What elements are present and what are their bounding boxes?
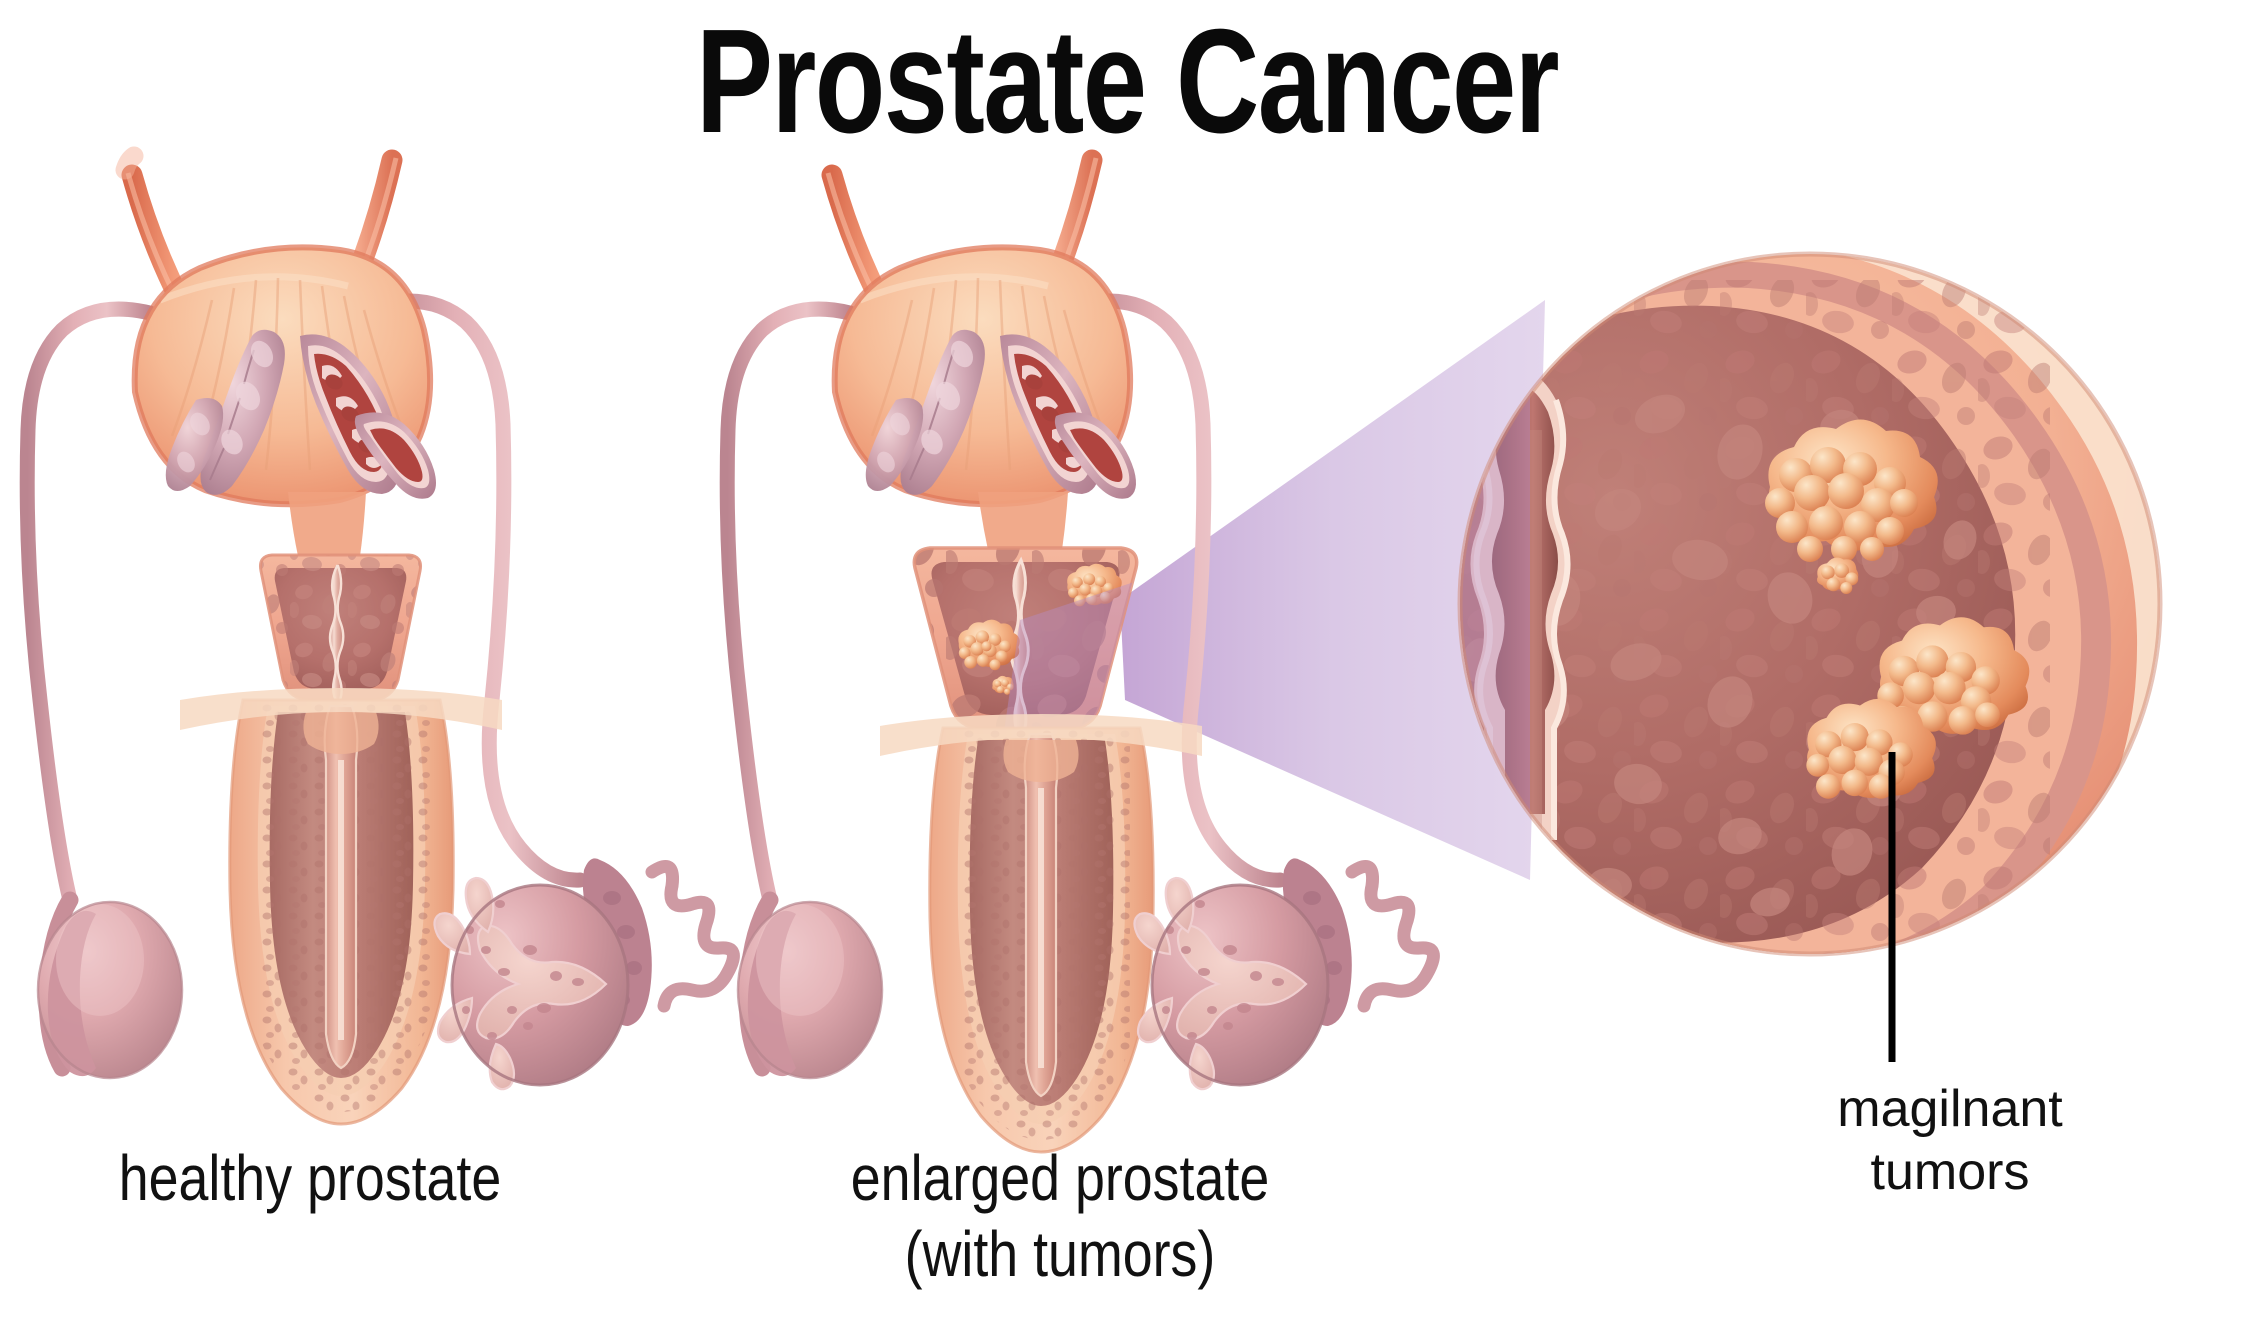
bladder-2 (835, 247, 1130, 550)
penis-shaft-healthy (180, 688, 502, 1130)
caption-healthy-prostate: healthy prostate (16, 1141, 604, 1217)
caption-malignant-tumors: magilnant tumors (1700, 1078, 2200, 1205)
caption-enlarged-prostate: enlarged prostate (with tumors) (749, 1141, 1371, 1292)
prostate-healthy (255, 550, 435, 710)
vas-deferens-left (27, 309, 150, 900)
testicle-left-enlarged (738, 900, 882, 1078)
illustration-canvas: Prostate Cancer (0, 0, 2254, 1329)
vas-deferens-left-2 (727, 309, 850, 900)
testicle-left-healthy (38, 900, 182, 1078)
testicle-right-enlarged (1134, 858, 1433, 1089)
testicle-right-healthy (434, 858, 733, 1089)
caption-enlarged-line2: (with tumors) (749, 1217, 1371, 1293)
panel-healthy (27, 156, 733, 1130)
caption-healthy-text: healthy prostate (119, 1142, 502, 1214)
caption-enlarged-line1: enlarged prostate (749, 1141, 1371, 1217)
